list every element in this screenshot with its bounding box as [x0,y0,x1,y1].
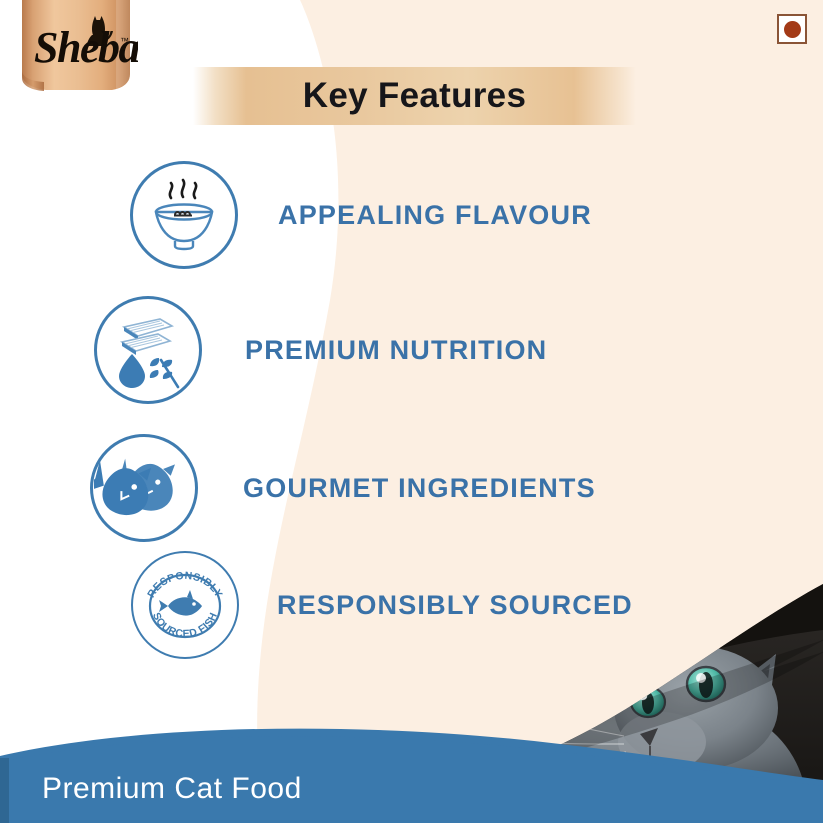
feature-label: GOURMET INGREDIENTS [243,473,596,504]
stamp-top-text: RESPONSIBLY [145,570,225,600]
non-veg-dot [784,21,801,38]
non-veg-mark-icon [777,14,807,44]
feature-row-premium-nutrition: PREMIUM NUTRITION [94,296,547,404]
responsibly-sourced-fish-stamp-icon: RESPONSIBLY SOURCED FISH [131,551,239,659]
steaming-bowl-icon [130,161,238,269]
feature-row-gourmet-ingredients: GOURMET INGREDIENTS [90,434,596,542]
footer-banner [0,718,823,823]
feature-label: APPEALING FLAVOUR [278,200,592,231]
page-title: Key Features [193,67,636,125]
two-fish-icon [90,434,198,542]
sheba-logo [16,0,138,96]
footer-tagline: Premium Cat Food [42,772,302,806]
fish-fillet-droplet-leaf-icon [94,296,202,404]
svg-text:RESPONSIBLY: RESPONSIBLY [145,570,225,600]
product-infographic: Sheba ™ Key Features [0,0,823,823]
feature-label: PREMIUM NUTRITION [245,335,547,366]
feature-row-appealing-flavour: APPEALING FLAVOUR [130,161,592,269]
